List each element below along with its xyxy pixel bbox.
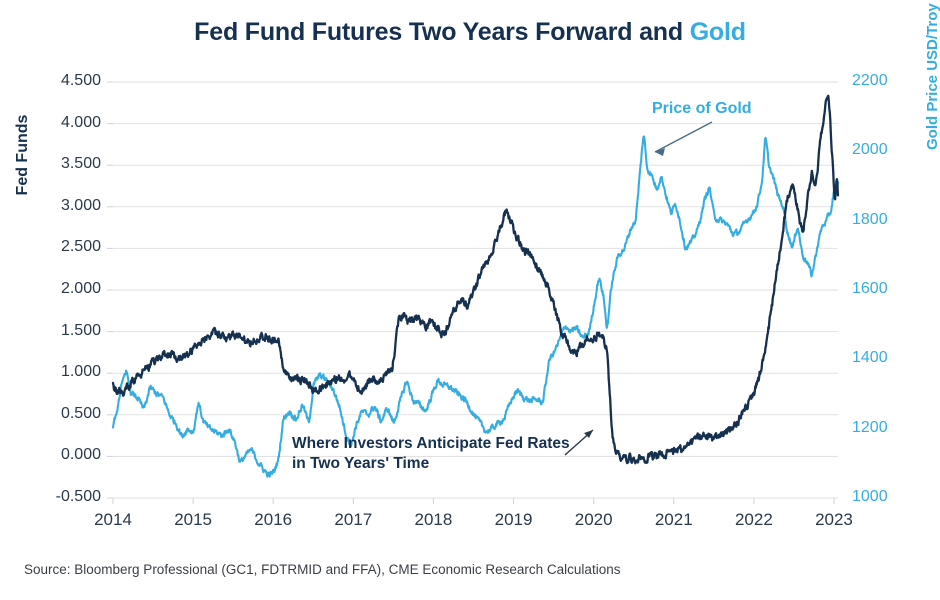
fed-annotation-line2: in Two Years' Time xyxy=(292,454,570,474)
y-axis-left-tick: -0.500 xyxy=(29,488,101,506)
x-axis-tick: 2014 xyxy=(78,510,148,530)
y-axis-right-tick: 1400 xyxy=(852,349,912,367)
y-axis-left-tick: 4.500 xyxy=(29,72,101,90)
x-axis-tick: 2016 xyxy=(238,510,308,530)
y-axis-left-tick: 1.000 xyxy=(29,363,101,381)
source-note: Source: Bloomberg Professional (GC1, FDT… xyxy=(24,562,620,577)
y-axis-right-tick: 1800 xyxy=(852,211,912,229)
y-axis-right-tick: 1000 xyxy=(852,488,912,506)
x-axis-tick: 2017 xyxy=(318,510,388,530)
x-axis-tick: 2023 xyxy=(799,510,869,530)
x-axis-tick: 2021 xyxy=(639,510,709,530)
x-axis-ticks xyxy=(113,498,834,504)
y-axis-left-tick: 2.500 xyxy=(29,238,101,256)
y-axis-left-tick: 1.500 xyxy=(29,322,101,340)
y-axis-right-label: Gold Price USD/Troy Ounce xyxy=(924,0,940,150)
y-axis-left-tick: 0.000 xyxy=(29,446,101,464)
gold-annotation-arrow xyxy=(655,122,712,156)
y-axis-right-tick: 1200 xyxy=(852,419,912,437)
series-line-gold xyxy=(113,137,838,477)
x-axis-tick: 2018 xyxy=(398,510,468,530)
y-axis-right-tick: 2000 xyxy=(852,141,912,159)
y-axis-right-tick: 2200 xyxy=(852,72,912,90)
y-axis-left-tick: 2.000 xyxy=(29,280,101,298)
y-axis-left-tick: 0.500 xyxy=(29,405,101,423)
y-axis-left-tick: 4.000 xyxy=(29,114,101,132)
y-axis-left-tick: 3.500 xyxy=(29,155,101,173)
x-axis-tick: 2022 xyxy=(719,510,789,530)
x-axis-tick: 2020 xyxy=(559,510,629,530)
y-axis-right-tick: 1600 xyxy=(852,280,912,298)
series-line-fed-funds xyxy=(113,96,838,463)
gold-annotation-label: Price of Gold xyxy=(652,100,752,118)
x-axis-tick: 2015 xyxy=(158,510,228,530)
y-axis-left-tick: 3.000 xyxy=(29,197,101,215)
fed-annotation-label: Where Investors Anticipate Fed Rates in … xyxy=(292,434,570,475)
chart-root: Fed Fund Futures Two Years Forward and G… xyxy=(0,0,940,600)
fed-annotation-line1: Where Investors Anticipate Fed Rates xyxy=(292,434,570,454)
x-axis-tick: 2019 xyxy=(479,510,549,530)
